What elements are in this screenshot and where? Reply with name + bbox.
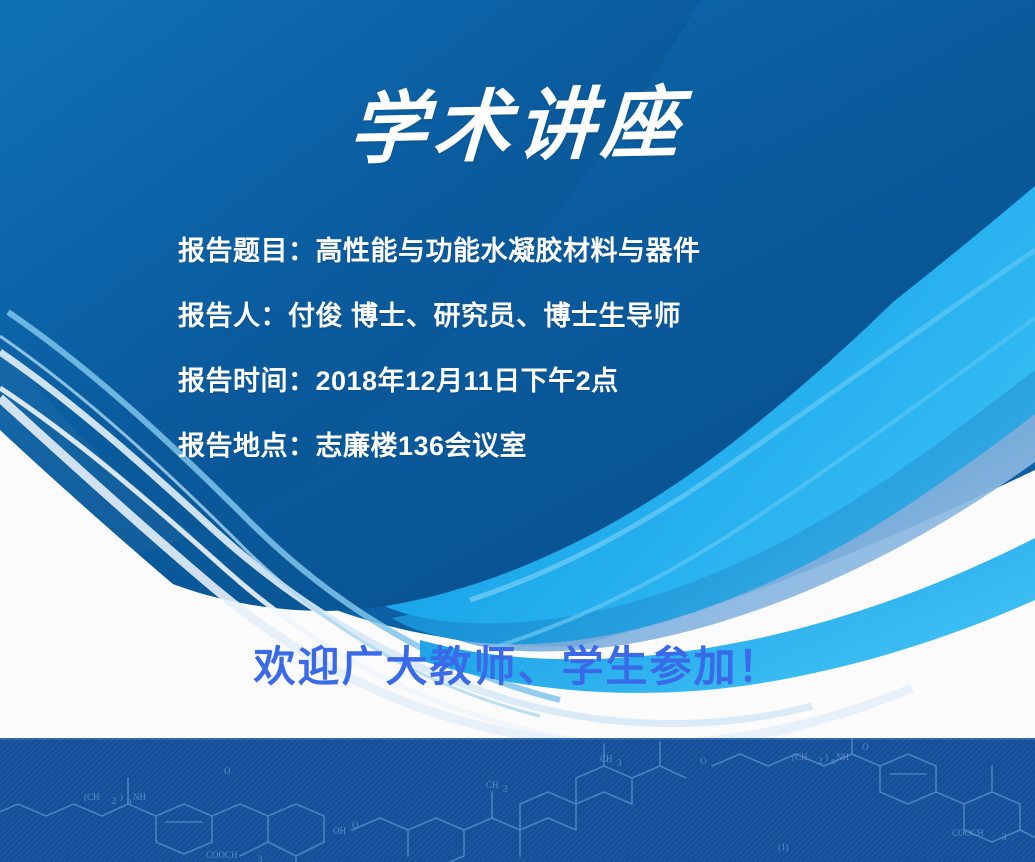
- svg-text:O: O: [700, 756, 707, 766]
- info-line-topic: 报告题目：高性能与功能水凝胶材料与器件: [178, 238, 878, 274]
- svg-text:OH: OH: [333, 826, 346, 836]
- svg-text:CH: CH: [600, 754, 613, 764]
- svg-text:CH: CH: [486, 780, 499, 790]
- svg-text:COOCH: COOCH: [952, 828, 984, 838]
- svg-text:COOCH: COOCH: [206, 850, 238, 860]
- svg-text:n: n: [127, 796, 132, 806]
- svg-text:3: 3: [617, 758, 622, 768]
- svg-text:3: 3: [258, 854, 263, 862]
- info-line-time: 报告时间：2018年12月11日下午2点: [178, 368, 878, 404]
- chemical-structure-band: (CH 2 ) n NH O COOCH 3 CH 3 CH 3 OH O O …: [0, 738, 1035, 862]
- svg-text:): ): [120, 792, 123, 802]
- lecture-poster: 学术讲座 报告题目：高性能与功能水凝胶材料与器件 报告人：付俊 博士、研究员、博…: [0, 0, 1035, 862]
- info-line-speaker: 报告人：付俊 博士、研究员、博士生导师: [178, 303, 878, 339]
- svg-text:NH: NH: [133, 792, 146, 802]
- info-line-location: 报告地点：志廉楼136会议室: [178, 433, 878, 469]
- lecture-info-list: 报告题目：高性能与功能水凝胶材料与器件 报告人：付俊 博士、研究员、博士生导师 …: [178, 238, 878, 498]
- svg-text:O: O: [862, 742, 869, 752]
- welcome-message: 欢迎广大教师、学生参加！: [253, 644, 781, 690]
- svg-text:2: 2: [818, 756, 823, 766]
- svg-text:(CH: (CH: [84, 792, 100, 802]
- svg-text:O: O: [224, 766, 231, 776]
- svg-text:NH: NH: [836, 752, 849, 762]
- svg-text:2: 2: [112, 796, 117, 806]
- svg-text:3: 3: [503, 784, 508, 794]
- svg-text:3: 3: [1002, 832, 1007, 842]
- svg-text:(CH: (CH: [792, 752, 808, 762]
- molecule-diagram-icon: (CH 2 ) n NH O COOCH 3 CH 3 CH 3 OH O O …: [0, 738, 1035, 862]
- welcome-block: 欢迎广大教师、学生参加！: [0, 644, 1035, 690]
- svg-text:O: O: [352, 820, 359, 830]
- svg-text:(1): (1): [778, 842, 789, 852]
- svg-text:): ): [825, 752, 828, 762]
